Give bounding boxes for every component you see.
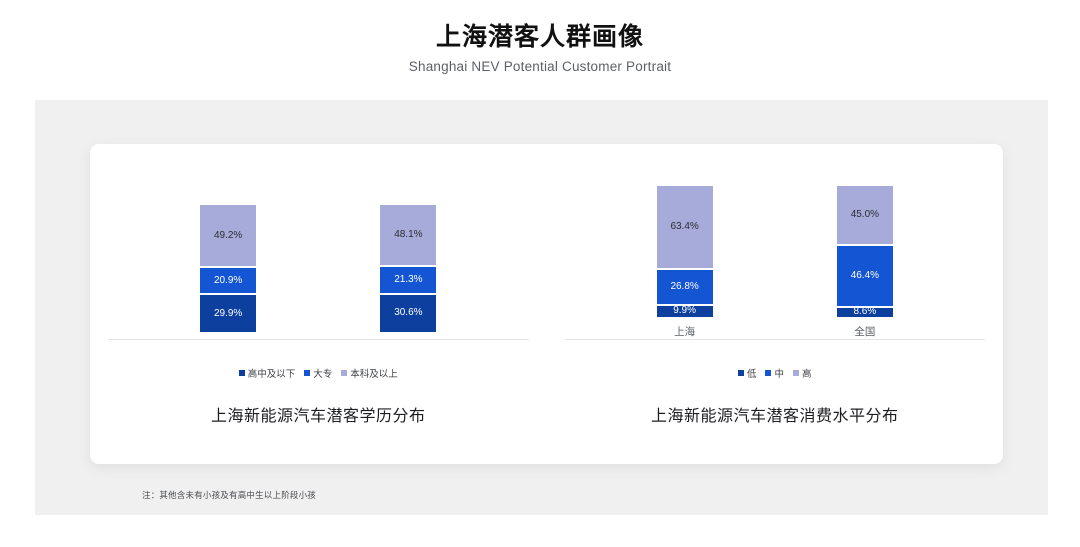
stacked-bar[interactable]: 49.2% 20.9% 29.9% bbox=[199, 204, 257, 333]
bar-segment-dark[interactable]: 9.9% bbox=[656, 305, 714, 318]
bar-segment-label: 8.6% bbox=[853, 307, 876, 317]
bar-segment-label: 45.0% bbox=[851, 210, 879, 220]
bar-group[interactable]: 48.1% 21.3% 30.6% bbox=[378, 204, 438, 339]
legend-label: 本科及以上 bbox=[350, 366, 398, 380]
legend-item[interactable]: 本科及以上 bbox=[341, 366, 398, 380]
bar-segment-label: 30.6% bbox=[394, 308, 422, 318]
charts-row: 49.2% 20.9% 29.9% bbox=[90, 144, 1003, 402]
bar-segment-label: 63.4% bbox=[670, 222, 698, 232]
bar-segment-mid[interactable]: 26.8% bbox=[656, 269, 714, 305]
legend-label: 低 bbox=[747, 366, 757, 380]
content-panel: 49.2% 20.9% 29.9% bbox=[35, 100, 1048, 515]
legend-swatch-icon bbox=[765, 370, 771, 376]
category-label: 全国 bbox=[854, 324, 875, 339]
bar-segment-mid[interactable]: 20.9% bbox=[199, 267, 257, 294]
footnote: 注：其他含未有小孩及有高中生以上阶段小孩 bbox=[142, 489, 316, 501]
bar-group[interactable]: 49.2% 20.9% 29.9% bbox=[198, 204, 258, 339]
category-label: 上海 bbox=[674, 324, 695, 339]
legend-label: 大专 bbox=[313, 366, 332, 380]
chart-caption-consumption: 上海新能源汽车潜客消费水平分布 bbox=[547, 402, 1004, 426]
legend-item[interactable]: 低 bbox=[738, 366, 757, 380]
legend-label: 中 bbox=[774, 366, 784, 380]
legend-swatch-icon bbox=[341, 370, 347, 376]
legend-item[interactable]: 大专 bbox=[304, 366, 332, 380]
legend-swatch-icon bbox=[239, 370, 245, 376]
legend-swatch-icon bbox=[304, 370, 310, 376]
legend-item[interactable]: 高中及以下 bbox=[239, 366, 296, 380]
bar-segment-mid[interactable]: 21.3% bbox=[379, 266, 437, 293]
bar-segment-label: 49.2% bbox=[214, 231, 242, 241]
bar-segment-light[interactable]: 49.2% bbox=[199, 204, 257, 267]
bar-segment-dark[interactable]: 30.6% bbox=[379, 294, 437, 333]
bar-segment-label: 9.9% bbox=[673, 306, 696, 316]
bar-segment-light[interactable]: 45.0% bbox=[836, 185, 894, 245]
legend-swatch-icon bbox=[738, 370, 744, 376]
page-root: 上海潜客人群画像 Shanghai NEV Potential Customer… bbox=[0, 0, 1080, 547]
bar-segment-dark[interactable]: 29.9% bbox=[199, 294, 257, 333]
legend-swatch-icon bbox=[793, 370, 799, 376]
bar-segment-label: 48.1% bbox=[394, 230, 422, 240]
axis-line bbox=[108, 339, 529, 340]
stacked-bar[interactable]: 63.4% 26.8% 9.9% bbox=[656, 185, 714, 318]
chart-card: 49.2% 20.9% 29.9% bbox=[90, 144, 1003, 464]
plot-area-education: 49.2% 20.9% 29.9% bbox=[90, 144, 547, 339]
bar-segment-light[interactable]: 48.1% bbox=[379, 204, 437, 266]
page-subtitle: Shanghai NEV Potential Customer Portrait bbox=[0, 59, 1080, 74]
stacked-bar[interactable]: 45.0% 46.4% 8.6% bbox=[836, 185, 894, 318]
legend-item[interactable]: 高 bbox=[793, 366, 812, 380]
chart-legend-consumption: 低 中 高 bbox=[547, 366, 1004, 380]
bar-group[interactable]: 45.0% 46.4% 8.6% 全国 bbox=[835, 185, 895, 339]
chart-panel-education: 49.2% 20.9% 29.9% bbox=[90, 144, 547, 402]
bar-segment-label: 20.9% bbox=[214, 276, 242, 286]
legend-item[interactable]: 中 bbox=[765, 366, 784, 380]
chart-panel-consumption: 63.4% 26.8% 9.9% 上海 bbox=[547, 144, 1004, 402]
chart-captions-row: 上海新能源汽车潜客学历分布 上海新能源汽车潜客消费水平分布 bbox=[90, 402, 1003, 426]
bar-segment-light[interactable]: 63.4% bbox=[656, 185, 714, 269]
page-header: 上海潜客人群画像 Shanghai NEV Potential Customer… bbox=[0, 22, 1080, 74]
axis-line bbox=[565, 339, 986, 340]
bar-segment-label: 26.8% bbox=[670, 282, 698, 292]
bar-segment-label: 21.3% bbox=[394, 275, 422, 285]
bar-group[interactable]: 63.4% 26.8% 9.9% 上海 bbox=[655, 185, 715, 339]
legend-label: 高中及以下 bbox=[248, 366, 296, 380]
bar-segment-mid[interactable]: 46.4% bbox=[836, 245, 894, 307]
stacked-bar[interactable]: 48.1% 21.3% 30.6% bbox=[379, 204, 437, 333]
bar-segment-dark[interactable]: 8.6% bbox=[836, 307, 894, 318]
page-title: 上海潜客人群画像 bbox=[0, 22, 1080, 52]
legend-label: 高 bbox=[802, 366, 812, 380]
bar-segment-label: 46.4% bbox=[851, 271, 879, 281]
plot-area-consumption: 63.4% 26.8% 9.9% 上海 bbox=[547, 144, 1004, 339]
chart-legend-education: 高中及以下 大专 本科及以上 bbox=[90, 366, 547, 380]
bar-segment-label: 29.9% bbox=[214, 309, 242, 319]
chart-caption-education: 上海新能源汽车潜客学历分布 bbox=[90, 402, 547, 426]
